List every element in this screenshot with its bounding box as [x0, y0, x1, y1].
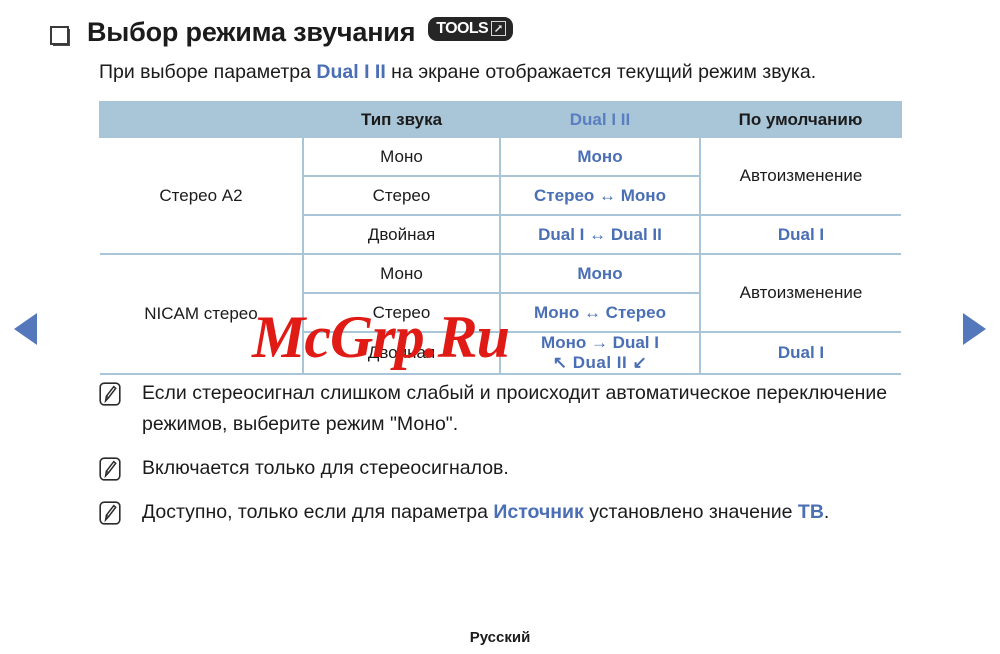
table-row: NICAM стерео Моно Моно Автоизменение [100, 254, 901, 293]
table-header-row: Тип звука Dual I II По умолчанию [100, 102, 901, 137]
table-header-dual: Dual I II [500, 102, 700, 137]
cell-default: Dual I [700, 215, 901, 254]
intro-after: на экране отображается текущий режим зву… [386, 61, 816, 83]
page-root: Выбор режима звучания TOOLS При выборе п… [0, 0, 1000, 654]
page-title: Выбор режима звучания [87, 17, 415, 48]
notes-list: Если стереосигнал слишком слабый и проис… [99, 378, 959, 541]
cell-sound-type: Двойная [303, 215, 500, 254]
page-title-row: Выбор режима звучания TOOLS [50, 12, 513, 52]
table-header-sound-type: Тип звука [303, 102, 500, 137]
arrow-out-of-box-icon [491, 21, 506, 36]
note-text: Включается только для стереосигналов. [142, 453, 509, 484]
checkbox-square-icon [50, 26, 67, 43]
note-item: Включается только для стереосигналов. [99, 453, 959, 484]
footer-language: Русский [0, 629, 1000, 646]
table-header-blank [100, 102, 303, 137]
note-pencil-icon [99, 382, 121, 406]
table-row: Стерео A2 Моно Моно Автоизменение [100, 137, 901, 176]
cell-sound-type: Стерео [303, 293, 500, 332]
note-middle: установлено значение [584, 501, 798, 523]
cell-default: Автоизменение [700, 137, 901, 215]
cell-sound-type: Стерео [303, 176, 500, 215]
cell-dual: Dual I ↔ Dual II [500, 215, 700, 254]
intro-sentence: При выборе параметра Dual I II на экране… [99, 61, 959, 84]
cell-default: Dual I [700, 332, 901, 374]
cell-dual: Стерео ↔ Моно [500, 176, 700, 215]
group-label-nicam-stereo: NICAM стерео [100, 254, 303, 374]
cell-dual: Моно [500, 254, 700, 293]
cell-dual: Моно ↔ Стерео [500, 293, 700, 332]
note-item: Если стереосигнал слишком слабый и проис… [99, 378, 959, 440]
note-pencil-icon [99, 457, 121, 481]
cell-default: Автоизменение [700, 254, 901, 332]
triangle-left-icon[interactable] [14, 313, 37, 345]
cell-sound-type: Моно [303, 254, 500, 293]
cell-dual-line2: ↖ Dual II ↙ [553, 353, 647, 372]
note-text: Доступно, только если для параметра Исто… [142, 497, 829, 528]
cell-dual: Моно [500, 137, 700, 176]
cell-sound-type: Двойная [303, 332, 500, 374]
triangle-right-icon[interactable] [963, 313, 986, 345]
tools-badge[interactable]: TOOLS [428, 17, 513, 41]
tools-badge-label: TOOLS [436, 21, 488, 37]
table-header-default: По умолчанию [700, 102, 901, 137]
note-highlight-tv: ТВ [798, 501, 824, 523]
sound-mode-table: Тип звука Dual I II По умолчанию Стерео … [99, 101, 902, 375]
cell-dual-line1: Моно → Dual I [541, 333, 659, 352]
note-text: Если стереосигнал слишком слабый и проис… [142, 378, 957, 440]
note-pencil-icon [99, 501, 121, 525]
cell-dual-cycle-diagram: Моно → Dual I ↖ Dual II ↙ [500, 332, 700, 374]
note-suffix: . [824, 501, 829, 523]
intro-highlight: Dual I II [316, 61, 385, 83]
note-prefix: Доступно, только если для параметра [142, 501, 493, 523]
cell-sound-type: Моно [303, 137, 500, 176]
note-highlight-source: Источник [493, 501, 583, 523]
intro-before: При выборе параметра [99, 61, 316, 83]
group-label-stereo-a2: Стерео A2 [100, 137, 303, 254]
note-item: Доступно, только если для параметра Исто… [99, 497, 959, 528]
